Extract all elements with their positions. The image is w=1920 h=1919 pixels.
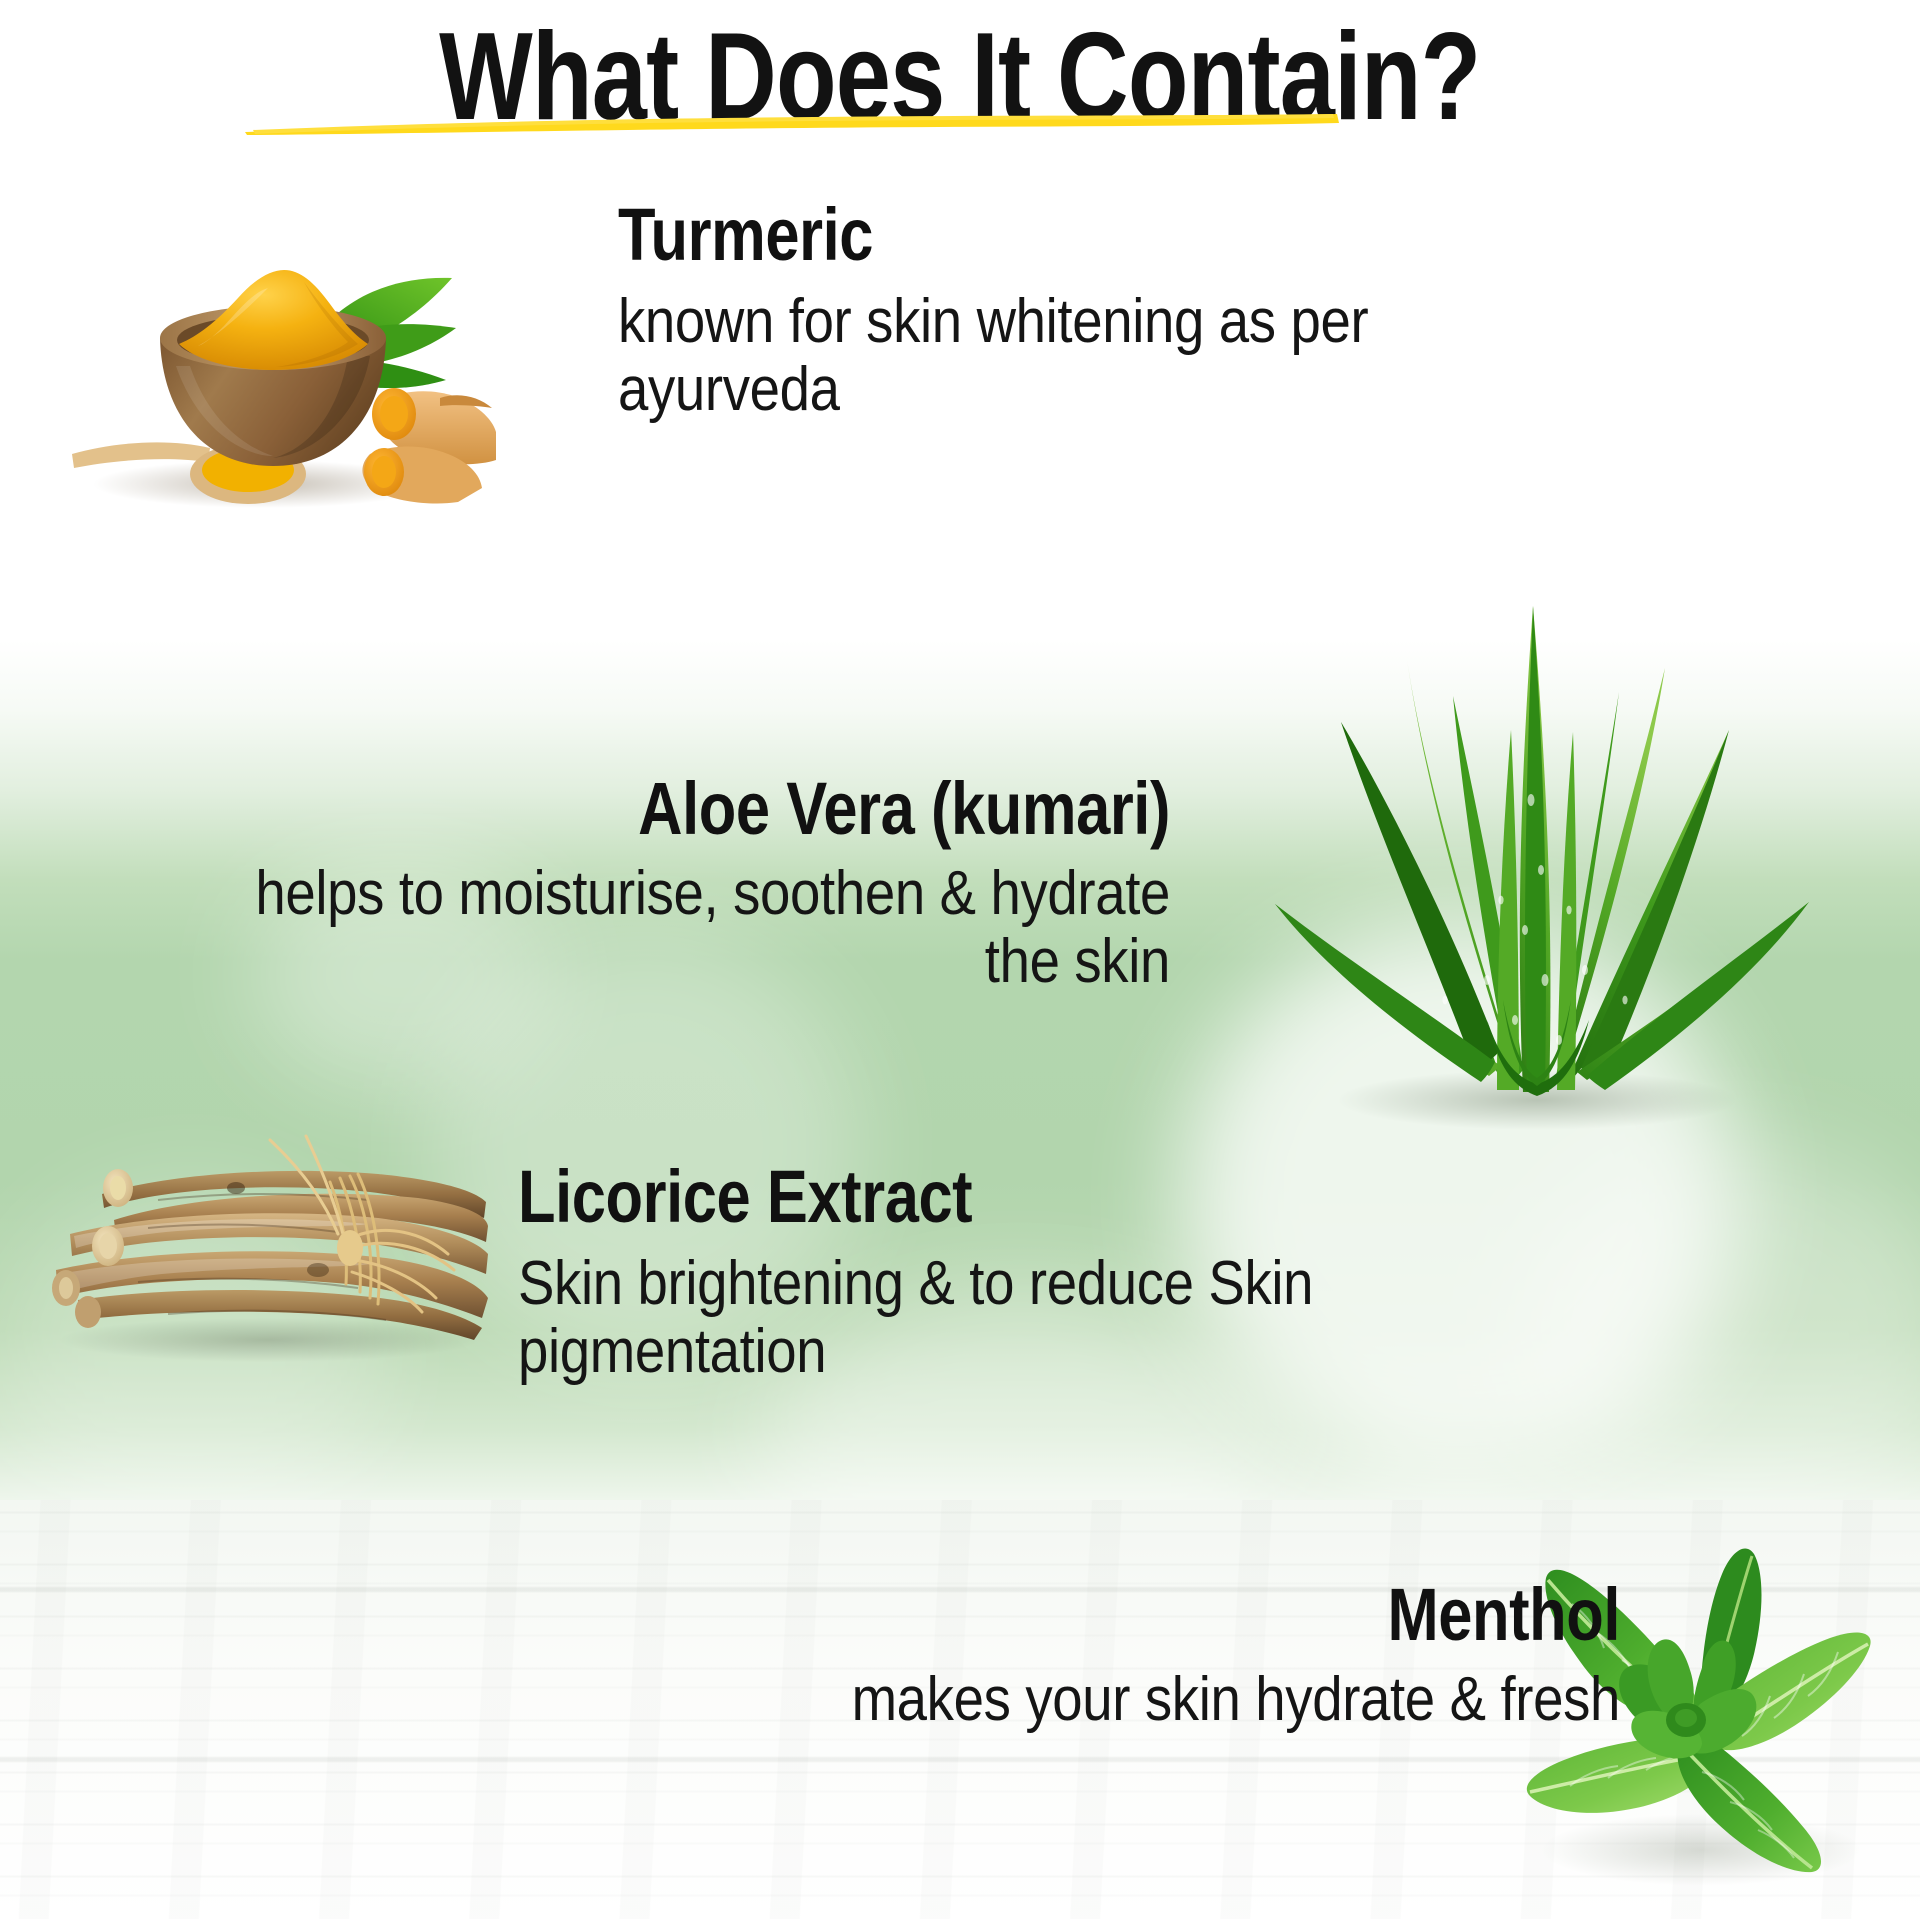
- page-title: What Does It Contain?: [439, 14, 1480, 140]
- infographic-poster: What Does It Contain?: [0, 0, 1920, 1919]
- ingredient-block-turmeric: Turmeric known for skin whitening as per…: [618, 198, 1878, 424]
- poster-title-wrap: What Does It Contain?: [0, 14, 1920, 140]
- licorice-root-sticks-image: [18, 1128, 488, 1378]
- ingredient-block-aloe-vera: Aloe Vera (kumari) helps to moisturise, …: [60, 772, 1170, 996]
- aloe-vera-plant-image: [1145, 500, 1920, 1130]
- ingredient-description-turmeric: known for skin whitening as per ayurveda: [618, 288, 1586, 424]
- ingredient-description-menthol: makes your skin hydrate & fresh: [458, 1666, 1620, 1734]
- ingredient-block-menthol: Menthol makes your skin hydrate & fresh: [300, 1578, 1620, 1734]
- ingredient-name-licorice: Licorice Extract: [518, 1160, 1622, 1234]
- ingredient-description-aloe-vera: helps to moisturise, soothen & hydrate t…: [193, 860, 1170, 996]
- ingredient-name-aloe-vera: Aloe Vera (kumari): [249, 772, 1170, 846]
- ingredient-name-turmeric: Turmeric: [618, 198, 1664, 272]
- ingredient-name-menthol: Menthol: [524, 1578, 1620, 1652]
- ingredient-description-licorice: Skin brightening & to reduce Skin pigmen…: [518, 1250, 1556, 1386]
- ingredient-block-licorice: Licorice Extract Skin brightening & to r…: [518, 1160, 1848, 1386]
- turmeric-powder-bowl-image: [48, 216, 498, 516]
